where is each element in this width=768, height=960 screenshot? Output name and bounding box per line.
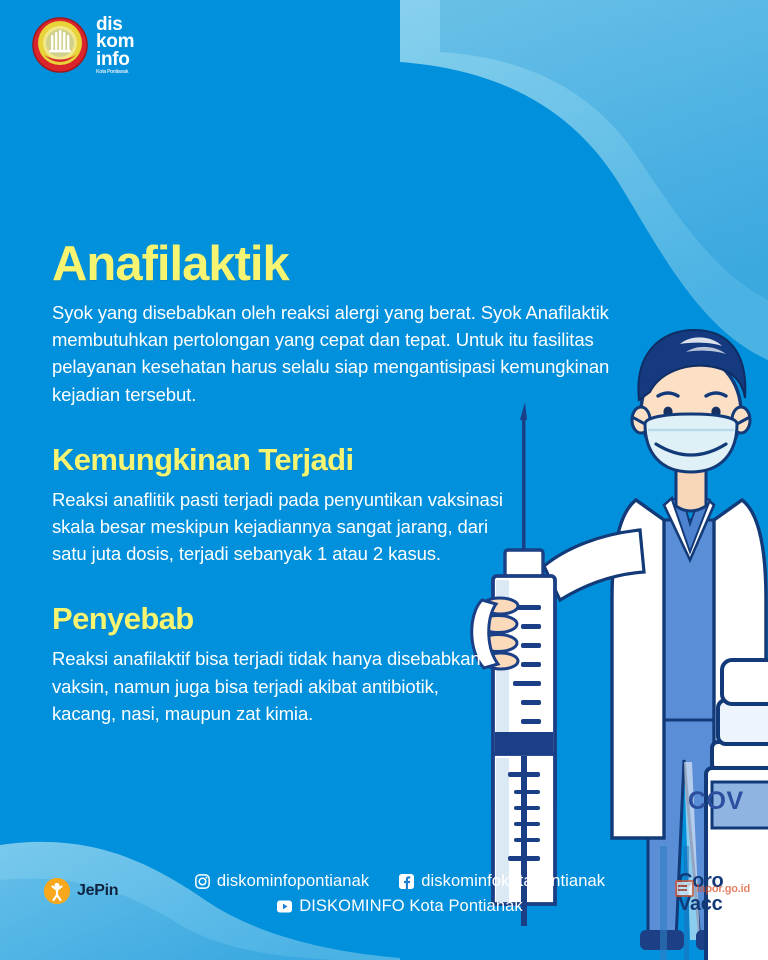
social-row-primary: diskominfopontianak diskominfokotapontia… bbox=[150, 872, 650, 891]
section-body-anafilaktik: Syok yang disebabkan oleh reaksi alergi … bbox=[52, 299, 632, 408]
section-body-penyebab: Reaksi anafilaktif bisa terjadi tidak ha… bbox=[52, 645, 492, 727]
youtube-handle: DISKOMINFO Kota Pontianak bbox=[299, 897, 523, 916]
content-column: Anafilaktik Syok yang disebabkan oleh re… bbox=[52, 240, 632, 727]
logo-line-3: info bbox=[96, 51, 134, 68]
facebook-icon bbox=[399, 874, 414, 889]
logo-subtitle: Kota Pontianak bbox=[96, 68, 134, 75]
lapor-watermark-text: lapor.go.id bbox=[697, 883, 750, 895]
social-facebook[interactable]: diskominfokotapontianak bbox=[399, 872, 605, 891]
section-title-kemungkinan: Kemungkinan Terjadi bbox=[52, 442, 522, 478]
instagram-handle: diskominfopontianak bbox=[217, 872, 369, 891]
infographic-poster: dis kom info Kota Pontianak bbox=[0, 0, 768, 960]
pontianak-city-seal-icon bbox=[32, 17, 88, 73]
facebook-handle: diskominfokotapontianak bbox=[421, 872, 605, 891]
diskominfo-logo: dis kom info Kota Pontianak bbox=[32, 14, 134, 75]
bottle-label: COV bbox=[688, 787, 768, 816]
lapor-watermark: lapor.go.id bbox=[675, 880, 750, 897]
social-youtube[interactable]: DISKOMINFO Kota Pontianak bbox=[277, 897, 523, 916]
jepin-label: JePin bbox=[77, 882, 118, 900]
section-title-penyebab: Penyebab bbox=[52, 601, 492, 637]
social-row-secondary: DISKOMINFO Kota Pontianak bbox=[150, 897, 650, 916]
section-kemungkinan-terjadi: Kemungkinan Terjadi Reaksi anaflitik pas… bbox=[52, 442, 522, 568]
person-figure-icon bbox=[44, 878, 70, 904]
social-links: diskominfopontianak diskominfokotapontia… bbox=[150, 872, 650, 916]
section-body-kemungkinan: Reaksi anaflitik pasti terjadi pada peny… bbox=[52, 486, 522, 568]
youtube-icon bbox=[277, 899, 292, 914]
social-instagram[interactable]: diskominfopontianak bbox=[195, 872, 369, 891]
jepin-logo: JePin bbox=[44, 878, 118, 904]
section-penyebab: Penyebab Reaksi anafilaktif bisa terjadi… bbox=[52, 601, 492, 727]
jepin-badge-icon bbox=[44, 878, 70, 904]
footer: JePin diskominfopontianak bbox=[0, 872, 768, 942]
instagram-icon bbox=[195, 874, 210, 889]
page-title: Anafilaktik bbox=[52, 240, 632, 289]
lapor-mark-icon bbox=[675, 880, 694, 897]
